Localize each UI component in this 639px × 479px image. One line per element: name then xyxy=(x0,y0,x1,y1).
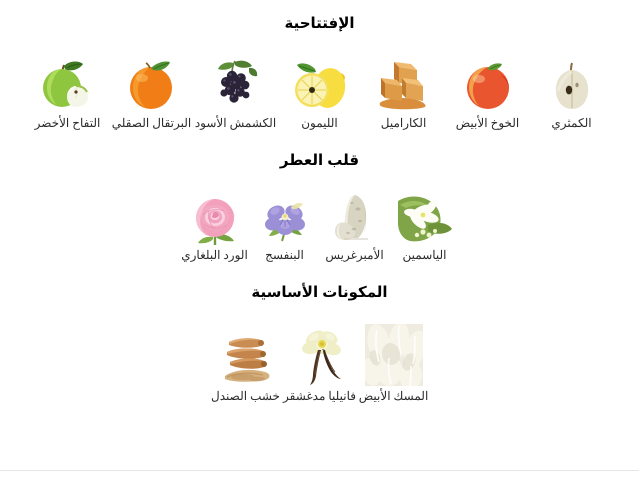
ingredient-row-heart-notes: الياسمين xyxy=(0,191,639,263)
section-heading-heart-notes: قلب العطر xyxy=(0,131,639,170)
ingredient-item-green-apple[interactable]: التفاح الأخضر xyxy=(26,55,110,131)
section-top-notes: الإفتتاحية الكمثري xyxy=(0,0,639,131)
ingredient-label: الكاراميل xyxy=(381,116,427,131)
ingredient-item-white-musk[interactable]: المسك الأبيض xyxy=(357,324,431,404)
section-heart-notes: قلب العطر xyxy=(0,131,639,264)
perfume-notes-page: الإفتتاحية الكمثري xyxy=(0,0,639,479)
bulgarian-rose-image xyxy=(188,191,242,245)
ingredient-row-top-notes: الكمثري الخوخ الأبيض xyxy=(0,55,639,131)
orange-image xyxy=(121,55,183,113)
ingredient-label: الياسمين xyxy=(403,248,447,263)
ingredient-label: البنفسج xyxy=(265,248,304,263)
ingredient-label: الكمثري xyxy=(551,116,591,131)
ingredient-label: الخوخ الأبيض xyxy=(456,116,520,131)
section-heading-top-notes: الإفتتاحية xyxy=(0,0,639,33)
white-musk-image xyxy=(365,324,423,386)
ingredient-item-pear[interactable]: الكمثري xyxy=(530,55,614,131)
ingredient-label: الكشمش الأسود xyxy=(195,116,276,131)
green-apple-image xyxy=(37,55,99,113)
vanilla-image xyxy=(291,324,349,386)
sandalwood-image xyxy=(217,324,275,386)
ingredient-item-ambergris[interactable]: الأمبرغريس xyxy=(320,191,390,263)
ingredient-label: فانيليا مدغشقر xyxy=(283,389,356,404)
peach-image xyxy=(457,55,519,113)
ingredient-item-caramel[interactable]: الكاراميل xyxy=(362,55,446,131)
ingredient-row-base-notes: المسك الأبيض xyxy=(0,324,639,404)
section-heading-base-notes: المكونات الأساسية xyxy=(0,263,639,302)
ingredient-item-white-peach[interactable]: الخوخ الأبيض xyxy=(446,55,530,131)
ingredient-label: البرتقال الصقلي xyxy=(112,116,191,131)
ingredient-item-sandalwood[interactable]: خشب الصندل xyxy=(209,324,283,404)
lemon-image xyxy=(289,55,351,113)
pear-half-image xyxy=(541,55,603,113)
ingredient-item-sicilian-orange[interactable]: البرتقال الصقلي xyxy=(110,55,194,131)
ingredient-item-lemon[interactable]: الليمون xyxy=(278,55,362,131)
ingredient-label: الأمبرغريس xyxy=(325,248,383,263)
jasmine-image xyxy=(398,191,452,245)
section-base-notes: المكونات الأساسية xyxy=(0,263,639,404)
ingredient-label: التفاح الأخضر xyxy=(35,116,101,131)
bottom-divider xyxy=(0,470,639,471)
ambergris-image xyxy=(328,191,382,245)
ingredient-item-violet[interactable]: البنفسج xyxy=(250,191,320,263)
ingredient-label: المسك الأبيض xyxy=(359,389,429,404)
ingredient-label: الليمون xyxy=(301,116,338,131)
ingredient-item-bulgarian-rose[interactable]: الورد البلغاري xyxy=(180,191,250,263)
blackcurrant-image xyxy=(205,55,267,113)
ingredient-item-madagascar-vanilla[interactable]: فانيليا مدغشقر xyxy=(283,324,357,404)
ingredient-label: خشب الصندل xyxy=(211,389,280,404)
ingredient-item-blackcurrant[interactable]: الكشمش الأسود xyxy=(194,55,278,131)
caramel-cubes-image xyxy=(373,55,435,113)
ingredient-item-jasmine[interactable]: الياسمين xyxy=(390,191,460,263)
violet-image xyxy=(258,191,312,245)
ingredient-label: الورد البلغاري xyxy=(181,248,248,263)
